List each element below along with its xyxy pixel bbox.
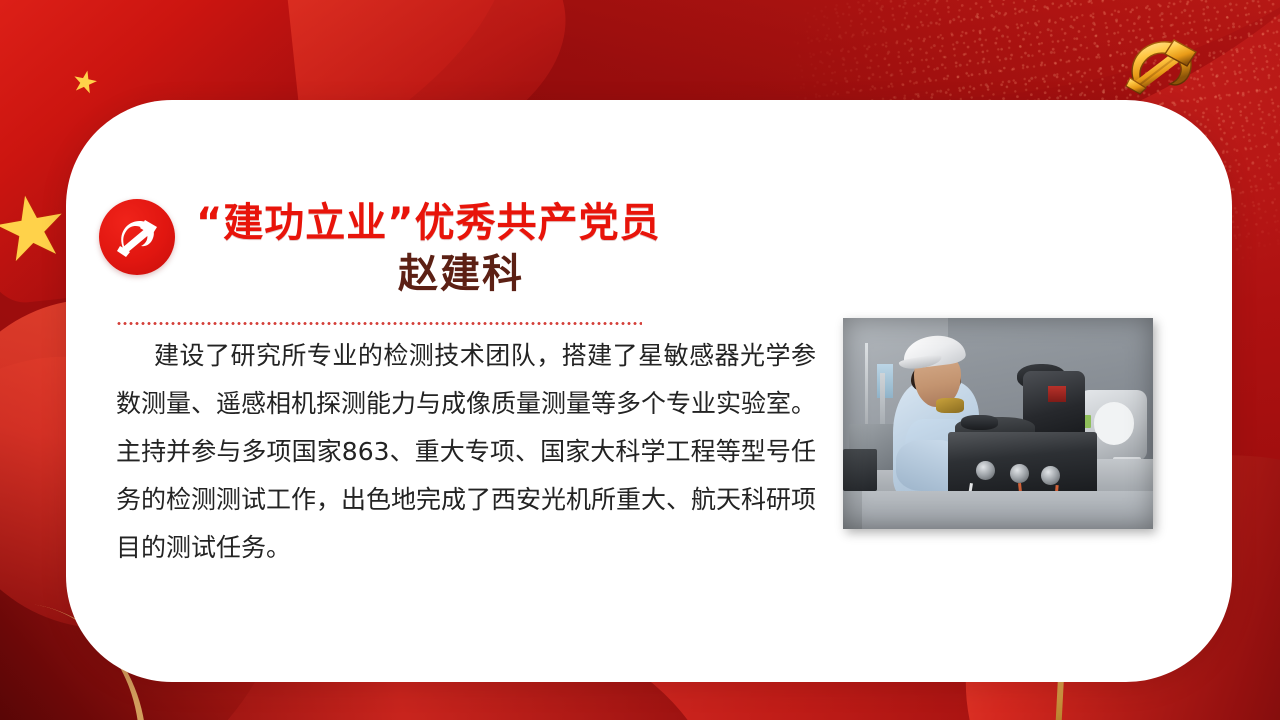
page-title: “建功立业”优秀共产党员 — [196, 200, 846, 246]
slide-root: ★ ★ ★ ★ ★ — [0, 0, 1280, 720]
body-paragraph: 建设了研究所专业的检测技术团队，搭建了星敏感器光学参数测量、遥感相机探测能力与成… — [116, 332, 816, 572]
flag-star-small-1: ★ — [69, 66, 102, 101]
person-name: 赵建科 — [196, 250, 846, 298]
flag-star-large: ★ — [0, 179, 76, 277]
lab-technician-photo — [843, 318, 1153, 529]
heading-block: “建功立业”优秀共产党员 赵建科 — [196, 200, 846, 298]
hammer-sickle-icon — [112, 212, 162, 262]
dotted-divider — [116, 322, 642, 325]
party-emblem-gold — [1116, 30, 1212, 102]
photo-vignette — [843, 318, 1153, 529]
party-emblem-badge — [99, 199, 175, 275]
